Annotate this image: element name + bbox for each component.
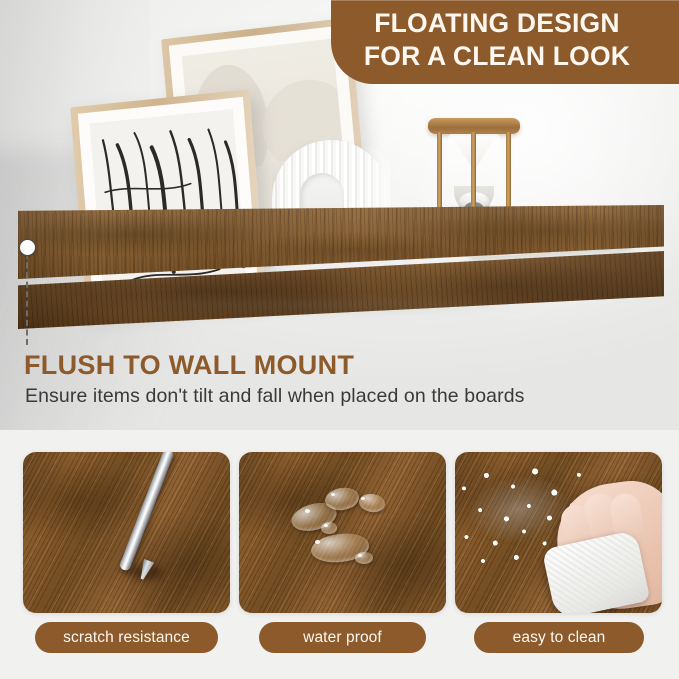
hourglass-post-left: [437, 132, 442, 216]
drop-highlight: [324, 524, 328, 527]
page-subtitle: Ensure items don't tilt and fall when pl…: [25, 385, 525, 408]
shelf-drop-shadow: [28, 301, 658, 335]
feature-photo-easy-to-clean: [455, 452, 662, 613]
wood-texture: [23, 452, 230, 613]
feature-panel-row: [0, 452, 679, 614]
header-banner: FLOATING DESIGN FOR A CLEAN LOOK: [331, 0, 679, 84]
badge-easy-to-clean[interactable]: easy to clean: [474, 622, 644, 653]
floating-shelf: [18, 205, 664, 335]
drop-highlight: [361, 497, 365, 500]
feature-photo-scratch-resistance: [23, 452, 230, 613]
badge-water-proof[interactable]: water proof: [259, 622, 426, 653]
dot-marker-icon: [19, 239, 36, 256]
badge-scratch-resistance[interactable]: scratch resistance: [35, 622, 218, 653]
dashed-leader-line-icon: [26, 253, 28, 345]
banner-text: FLOATING DESIGN FOR A CLEAN LOOK: [331, 7, 663, 73]
banner-line-2: FOR A CLEAN LOOK: [331, 40, 663, 73]
feature-photo-water-proof: [239, 452, 446, 613]
drop-highlight: [315, 540, 320, 544]
drop-highlight: [331, 493, 335, 496]
drop-highlight: [305, 509, 310, 513]
banner-line-1: FLOATING DESIGN: [331, 7, 663, 40]
drop-highlight: [358, 554, 362, 557]
hourglass-post-right: [506, 132, 511, 216]
hourglass-post-center: [471, 132, 476, 216]
feature-badge-row: scratch resistance water proof easy to c…: [0, 622, 679, 654]
wood-texture: [239, 452, 446, 613]
page-title: FLUSH TO WALL MOUNT: [24, 350, 354, 381]
product-feature-infographic: FLOATING DESIGN FOR A CLEAN LOOK FLUSH T…: [0, 0, 679, 679]
